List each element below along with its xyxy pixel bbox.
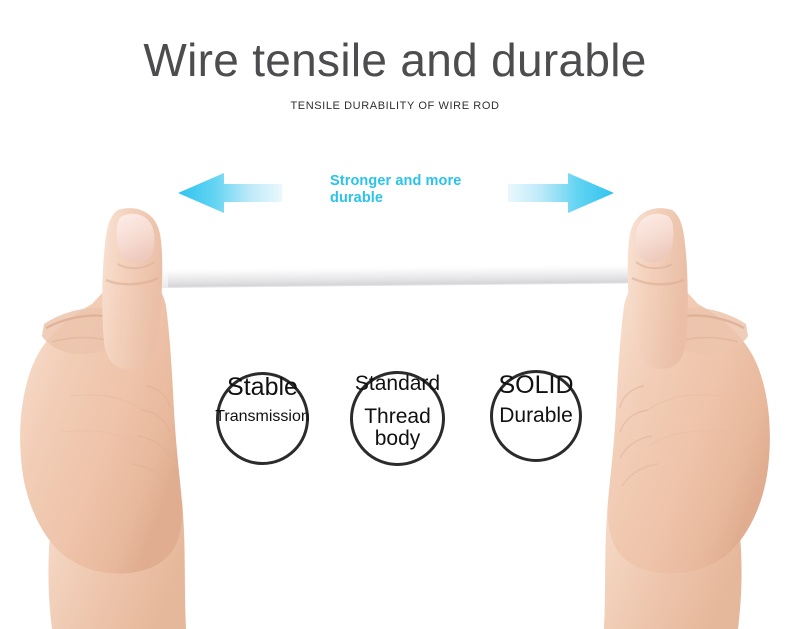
- feature-detail-body: body: [350, 428, 445, 450]
- page-title: Wire tensile and durable: [0, 36, 790, 84]
- promo-banner: Wire tensile and durable TENSILE DURABIL…: [0, 0, 790, 629]
- feature-detail-durable: Durable: [484, 405, 588, 427]
- caption-line-2: durable: [330, 190, 490, 207]
- feature-heading-stable: Stable: [216, 374, 309, 400]
- left-hand-photo: [0, 196, 215, 629]
- stronger-durable-caption: Stronger and more durable: [330, 173, 490, 207]
- feature-heading-solid: SOLID: [490, 372, 582, 398]
- cable-bar: [168, 263, 638, 288]
- caption-line-1: Stronger and more: [330, 173, 490, 190]
- feature-heading-standard: Standard: [345, 373, 450, 395]
- page-subtitle: TENSILE DURABILITY OF WIRE ROD: [0, 100, 790, 112]
- feature-detail-thread: Thread: [350, 406, 445, 428]
- feature-detail-transmission: Transmission: [206, 409, 319, 426]
- right-hand-photo: [575, 196, 790, 629]
